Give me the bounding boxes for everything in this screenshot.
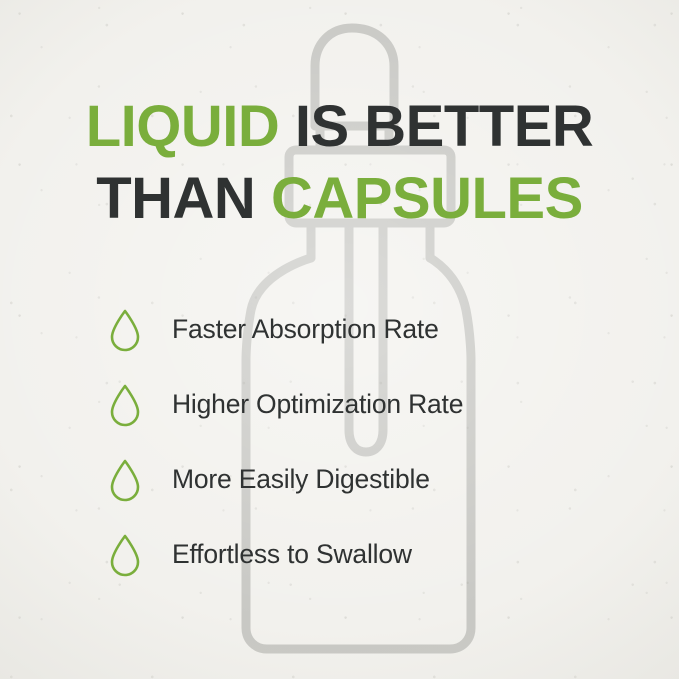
benefit-label: More Easily Digestible bbox=[172, 464, 430, 495]
water-drop-icon bbox=[108, 308, 142, 352]
headline-line-1: LIQUID IS BETTER bbox=[0, 98, 679, 156]
benefits-list: Faster Absorption Rate Higher Optimizati… bbox=[108, 292, 608, 592]
benefit-label: Effortless to Swallow bbox=[172, 539, 412, 570]
headline-word-than: THAN bbox=[96, 166, 255, 231]
benefit-item-4: Effortless to Swallow bbox=[108, 517, 608, 592]
benefit-item-2: Higher Optimization Rate bbox=[108, 367, 608, 442]
water-drop-icon bbox=[108, 383, 142, 427]
headline-line-2: THAN CAPSULES bbox=[0, 170, 679, 228]
headline-word-liquid: LIQUID bbox=[86, 94, 280, 159]
poster-canvas: LIQUID IS BETTER THAN CAPSULES Faster Ab… bbox=[0, 0, 679, 679]
benefit-item-1: Faster Absorption Rate bbox=[108, 292, 608, 367]
headline-word-capsules: CAPSULES bbox=[271, 166, 583, 231]
headline-word-is-better: IS BETTER bbox=[295, 94, 593, 159]
water-drop-icon bbox=[108, 533, 142, 577]
water-drop-icon bbox=[108, 458, 142, 502]
benefit-label: Higher Optimization Rate bbox=[172, 389, 463, 420]
benefit-item-3: More Easily Digestible bbox=[108, 442, 608, 517]
poster-content: LIQUID IS BETTER THAN CAPSULES Faster Ab… bbox=[0, 0, 679, 679]
benefit-label: Faster Absorption Rate bbox=[172, 314, 439, 345]
